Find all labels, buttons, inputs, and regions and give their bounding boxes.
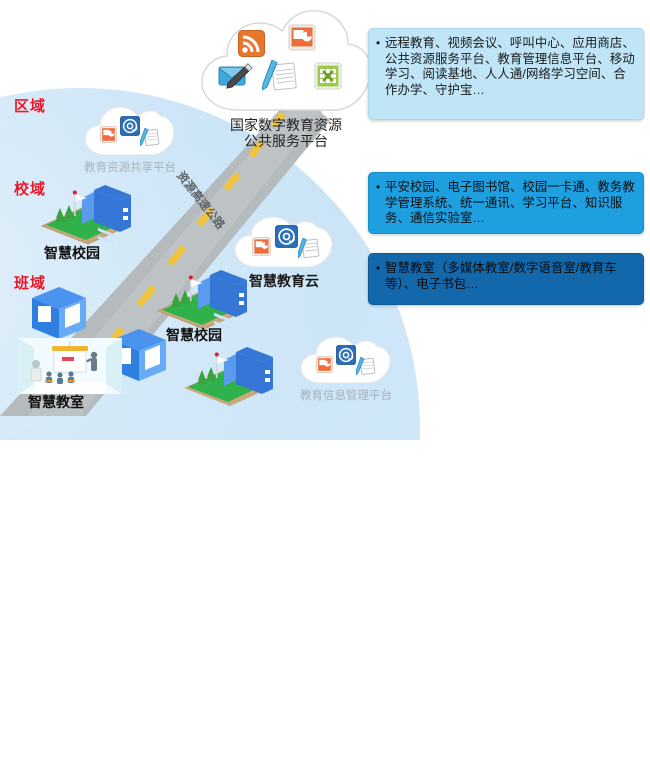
- mail-at-icon: [336, 345, 356, 365]
- smart-campus-label-1: 智慧校园: [44, 243, 100, 263]
- document-pen-icon: [140, 128, 160, 148]
- smart-campus-illustration-1: [36, 178, 136, 250]
- cloud-national-caption-line2: 公共服务平台: [196, 133, 376, 149]
- excel-icon: [314, 62, 342, 90]
- diagram-canvas: 资源高速公路 区域 校域 班域: [0, 0, 650, 416]
- document-pen-icon: [262, 60, 298, 92]
- bullet-icon: •: [376, 261, 385, 277]
- info-box-class[interactable]: • 智慧教室（多媒体教室/数字语音室/教育车等）、电子书包…: [368, 253, 644, 305]
- info-box-region-text: 远程教育、视频会议、呼叫中心、应用商店、公共资源服务平台、教育管理信息平台、移动…: [385, 36, 635, 98]
- info-box-school-text: 平安校园、电子图书馆、校园一卡通、教务教学管理系统、统一通讯、学习平台、知识服务…: [385, 180, 635, 227]
- cloud-national-caption-line1: 国家数字教育资源: [196, 117, 376, 133]
- mail-pen-icon: [218, 62, 254, 90]
- powerpoint-icon: [100, 126, 117, 143]
- document-pen-icon: [298, 238, 320, 260]
- mail-at-icon: [120, 116, 140, 136]
- cloud-resource-share-caption: 教育资源共享平台: [82, 159, 178, 175]
- document-pen-icon: [356, 357, 376, 377]
- bullet-icon: •: [376, 36, 385, 52]
- powerpoint-icon: [316, 356, 333, 373]
- bullet-icon: •: [376, 180, 385, 196]
- info-box-class-text: 智慧教室（多媒体教室/数字语音室/教育车等）、电子书包…: [385, 261, 635, 292]
- smart-classroom-label: 智慧教室: [28, 392, 84, 412]
- info-box-region[interactable]: • 远程教育、视频会议、呼叫中心、应用商店、公共资源服务平台、教育管理信息平台、…: [368, 28, 644, 120]
- cloud-info-mgmt-caption: 教育信息管理平台: [298, 387, 394, 403]
- smart-classroom-illustration: [18, 338, 122, 394]
- powerpoint-icon: [252, 237, 271, 256]
- cloud-national-platform: 国家数字教育资源 公共服务平台: [196, 8, 376, 149]
- cloud-resource-share: 教育资源共享平台: [82, 104, 178, 175]
- rss-icon: [238, 30, 265, 57]
- powerpoint-icon: [288, 24, 316, 51]
- cloud-info-mgmt: 教育信息管理平台: [298, 334, 394, 403]
- smart-campus-illustration-3: [178, 340, 278, 412]
- zone-label-region: 区域: [14, 95, 46, 116]
- classroom-block-icon-1: [28, 284, 90, 342]
- info-box-school[interactable]: • 平安校园、电子图书馆、校园一卡通、教务教学管理系统、统一通讯、学习平台、知识…: [368, 172, 644, 234]
- mail-at-icon: [275, 225, 298, 248]
